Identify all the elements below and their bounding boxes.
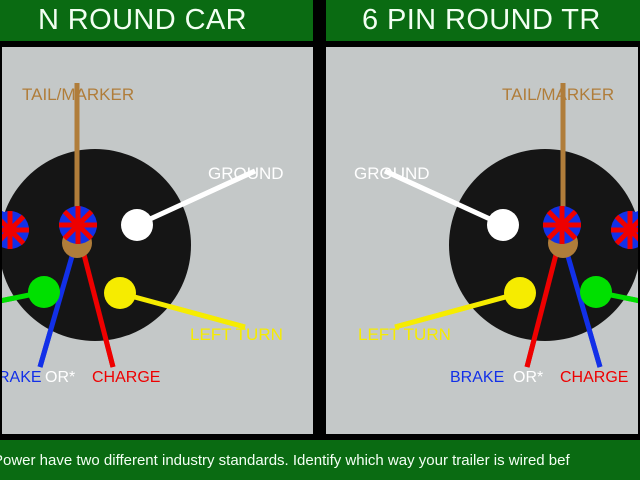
panel-header-trailer: 6 PIN ROUND TR [326, 0, 640, 44]
footer-caption-bar: Power have two different industry standa… [0, 437, 640, 480]
panel-title-trailer: 6 PIN ROUND TR [362, 6, 601, 35]
label-brake-car: RAKE [0, 369, 42, 386]
panel-divider [313, 0, 326, 437]
label-charge-trailer: CHARGE [560, 369, 628, 386]
label-ground-trailer: GROUND [354, 164, 430, 183]
brake-charge-pin-center-car[interactable] [59, 206, 97, 244]
panel-title-car: N ROUND CAR [38, 6, 247, 35]
right-turn-pin-trailer[interactable] [580, 276, 612, 308]
left-turn-pin-car[interactable] [104, 277, 136, 309]
connector-body-trailer [449, 149, 640, 341]
label-brake-trailer: BRAKE [450, 369, 504, 386]
brake-charge-pin-center-trailer[interactable] [543, 206, 581, 244]
label-tail-marker-car: TAIL/MARKER [22, 85, 134, 104]
label-tail-marker-trailer: TAIL/MARKER [502, 85, 614, 104]
connector-diagram-car: TAIL/MARKER GROUND LEFT TURN RAKE OR* CH… [0, 47, 313, 434]
ground-pin-car[interactable] [121, 209, 153, 241]
connector-body-car [0, 149, 191, 341]
panel-body-car: TAIL/MARKER GROUND LEFT TURN RAKE OR* CH… [0, 47, 313, 434]
footer-caption-text: Power have two different industry standa… [0, 453, 570, 468]
label-left-turn-trailer: LEFT TURN [358, 325, 451, 344]
right-turn-pin-car[interactable] [28, 276, 60, 308]
label-or-trailer: OR* [513, 369, 543, 386]
panel-body-trailer: TAIL/MARKER GROUND LEFT TURN BRAKE OR* C… [326, 47, 640, 434]
label-charge-car: CHARGE [92, 369, 160, 386]
ground-pin-trailer[interactable] [487, 209, 519, 241]
label-or-car: OR* [45, 369, 75, 386]
label-left-turn-car: LEFT TURN [190, 325, 283, 344]
label-ground-car: GROUND [208, 164, 284, 183]
connector-diagram-trailer: TAIL/MARKER GROUND LEFT TURN BRAKE OR* C… [326, 47, 640, 434]
panel-header-car: N ROUND CAR [0, 0, 313, 44]
diagram-canvas: N ROUND CAR 6 PIN ROUND TR [0, 0, 640, 480]
left-frame-edge [0, 44, 2, 437]
left-turn-pin-trailer[interactable] [504, 277, 536, 309]
